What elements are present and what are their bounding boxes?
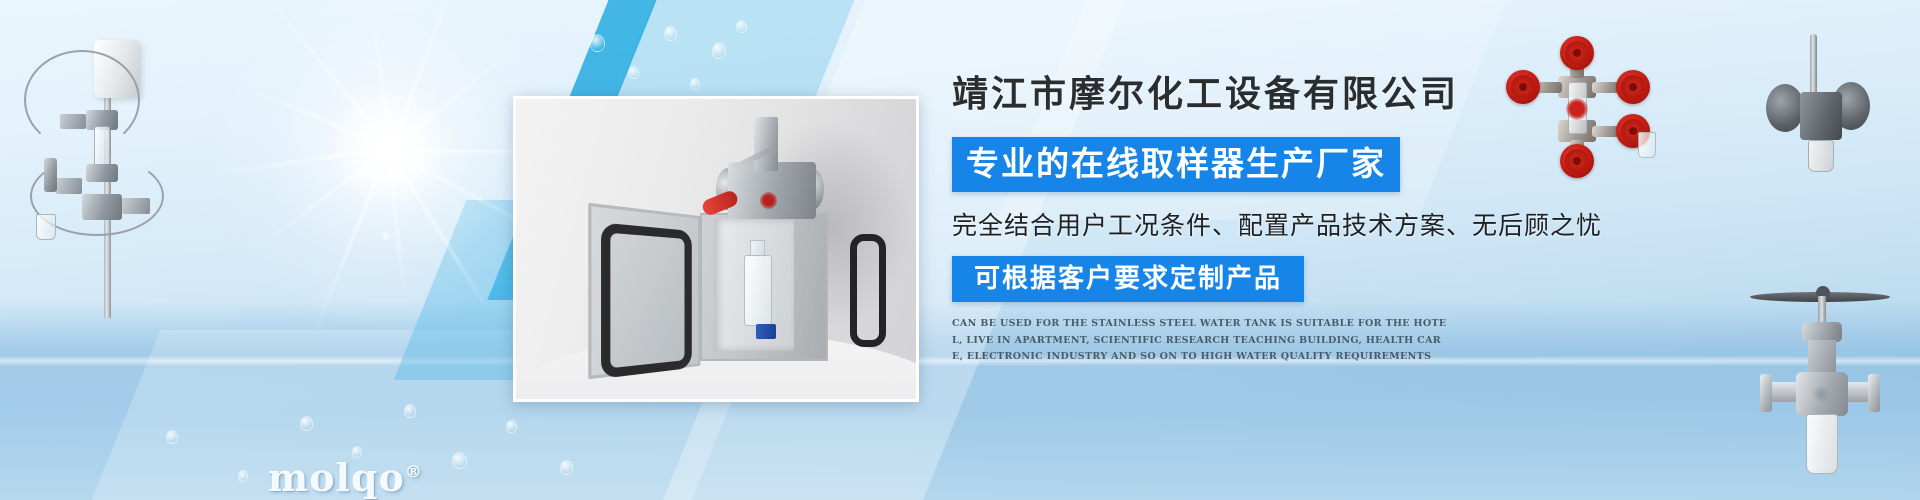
coil-tube-upper (24, 50, 140, 150)
handwheel-top (1560, 36, 1594, 70)
lever-handle (1810, 34, 1817, 100)
blue-cap (756, 324, 776, 339)
lever-valve-product-image (1748, 30, 1888, 190)
center-product-photo (513, 96, 919, 402)
left-product-image (8, 18, 188, 318)
english-description: CAN BE USED FOR THE STAINLESS STEEL WATE… (952, 316, 1450, 366)
handwheel-right (1616, 70, 1650, 104)
photo-background (516, 99, 916, 399)
brand-seal-icon (760, 192, 777, 209)
promo-banner: 靖江市摩尔化工设备有限公司 专业的在线取样器生产厂家 完全结合用户工况条件、配置… (0, 0, 1920, 500)
sample-bottle (1808, 140, 1834, 172)
flange-right (1868, 374, 1880, 412)
watermark-text: molqo (268, 455, 405, 500)
hex-fitting-top (60, 114, 86, 129)
valve-body (1800, 92, 1842, 140)
watermark-logo: molqo® (268, 455, 423, 500)
tagline-main: 专业的在线取样器生产厂家 (952, 137, 1400, 192)
valve-neck (1808, 340, 1836, 374)
sample-bottle (744, 255, 772, 326)
tagline-sub: 完全结合用户工况条件、配置产品技术方案、无后顾之忧 (952, 206, 1592, 242)
registered-mark-icon: ® (405, 462, 423, 482)
sight-glass (94, 126, 110, 168)
sample-bottle (1638, 132, 1656, 158)
sample-bottle (36, 214, 56, 240)
valve-block-mid (86, 164, 118, 182)
valve-block-lower (82, 194, 122, 220)
flange-left (1766, 84, 1804, 132)
hex-fitting-left (56, 178, 82, 194)
hex-fitting-right (122, 198, 150, 214)
relief-valve (44, 158, 57, 192)
door-window (601, 223, 692, 379)
banner-text-block: 靖江市摩尔化工设备有限公司 专业的在线取样器生产厂家 完全结合用户工况条件、配置… (952, 72, 1592, 366)
brand-seal-icon (1811, 386, 1831, 402)
valve-stack (754, 117, 778, 171)
flange-left (1760, 374, 1772, 412)
cabinet-handle (850, 234, 886, 347)
valve-bonnet (1802, 322, 1842, 342)
gate-valve-product-image (1756, 286, 1886, 486)
cabinet-door (588, 203, 700, 380)
company-name: 靖江市摩尔化工设备有限公司 (952, 72, 1592, 117)
tagline-custom: 可根据客户要求定制产品 (952, 256, 1304, 302)
sample-bottle (1806, 414, 1838, 474)
